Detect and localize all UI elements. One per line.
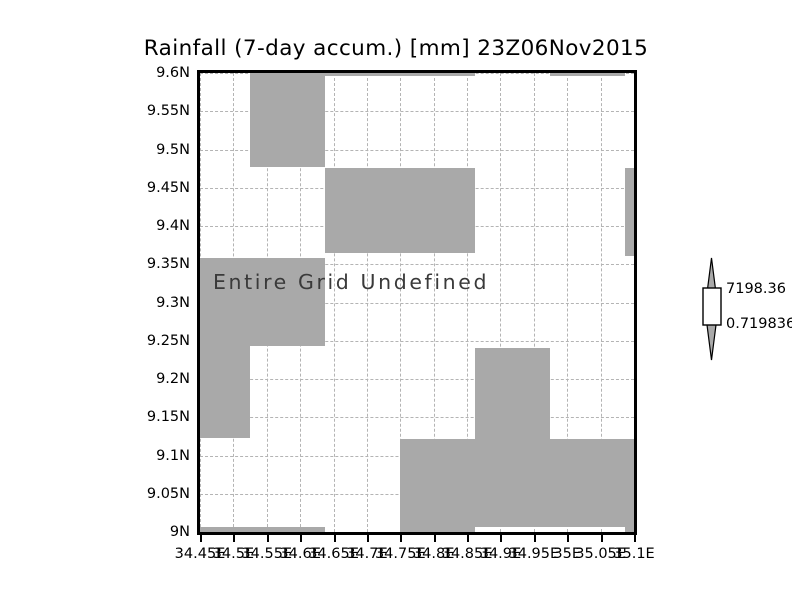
y-axis-tick [197,111,200,113]
heatmap-cells [200,73,634,532]
undefined-annotation: Entire Grid Undefined [213,270,489,294]
heatmap-cell-undefined [625,527,637,535]
colorbar-min-label: 0.719836 [726,316,792,332]
x-axis-labels: 34.45E34.5E34.55E34.6E34.65E34.7E34.75E3… [0,546,792,566]
y-axis-tick [197,494,200,496]
y-axis-tick-label: 9.45N [147,181,190,195]
colorbar-max-label: 7198.36 [726,281,786,297]
heatmap-cell-undefined [400,527,475,535]
x-axis-tick [500,535,502,542]
colorbar-legend: 7198.36 0.719836 [700,255,730,363]
y-axis-tick [197,73,200,75]
y-axis-tick-label: 9.5N [156,143,190,157]
y-axis-tick-label: 9.1N [156,449,190,463]
y-axis-tick-label: 9.3N [156,296,190,310]
y-axis-tick [197,150,200,152]
x-axis-tick [434,535,436,542]
y-axis-tick-label: 9N [170,525,190,539]
y-axis-tick [197,341,200,343]
y-axis-tick [197,188,200,190]
x-axis-tick [534,535,536,542]
y-axis-tick-label: 9.05N [147,487,190,501]
y-axis-tick [197,379,200,381]
y-axis-tick-label: 9.55N [147,104,190,118]
grads-plot-canvas: Rainfall (7-day accum.) [mm] 23Z06Nov201… [0,0,792,612]
x-axis-tick [367,535,369,542]
gridline-horizontal [200,532,634,533]
colorbar-middle-box [703,288,721,325]
heatmap-cell-undefined [325,168,475,253]
x-axis-tick [233,535,235,542]
heatmap-cell-undefined [200,527,325,535]
y-axis-tick-label: 9.35N [147,257,190,271]
heatmap-cell-undefined [400,439,637,527]
y-axis-tick [197,456,200,458]
heatmap-cell-undefined [250,73,325,167]
colorbar-shape [700,255,730,363]
heatmap-cell-undefined [625,168,637,256]
plot-area: Entire Grid Undefined [197,70,637,535]
x-axis-tick [200,535,202,542]
x-axis-tick [267,535,269,542]
y-axis-tick [197,417,200,419]
heatmap-cell-undefined [200,346,250,438]
x-axis-tick [400,535,402,542]
y-axis-tick [197,264,200,266]
y-axis-tick [197,226,200,228]
y-axis-tick-label: 9.15N [147,410,190,424]
gridline-horizontal [200,417,634,418]
x-axis-tick [467,535,469,542]
x-axis-tick [634,535,636,542]
gridline-horizontal [200,379,634,380]
y-axis-tick [197,303,200,305]
x-axis-tick-label: 35.1E [604,546,664,562]
y-axis-tick-label: 9.25N [147,334,190,348]
heatmap-cell-undefined [550,73,625,76]
heatmap-cell-undefined [325,73,475,76]
x-axis-tick [334,535,336,542]
x-axis-ticks [197,535,637,545]
x-axis-tick [601,535,603,542]
x-axis-tick [567,535,569,542]
y-axis-labels: 9.6N9.55N9.5N9.45N9.4N9.35N9.3N9.25N9.2N… [100,0,190,612]
gridline-vertical [634,73,635,532]
heatmap-cell-undefined [475,348,550,439]
x-axis-tick [300,535,302,542]
y-axis-tick-label: 9.2N [156,372,190,386]
y-axis-tick-label: 9.6N [156,66,190,80]
y-axis-tick [197,532,200,534]
y-axis-tick-label: 9.4N [156,219,190,233]
